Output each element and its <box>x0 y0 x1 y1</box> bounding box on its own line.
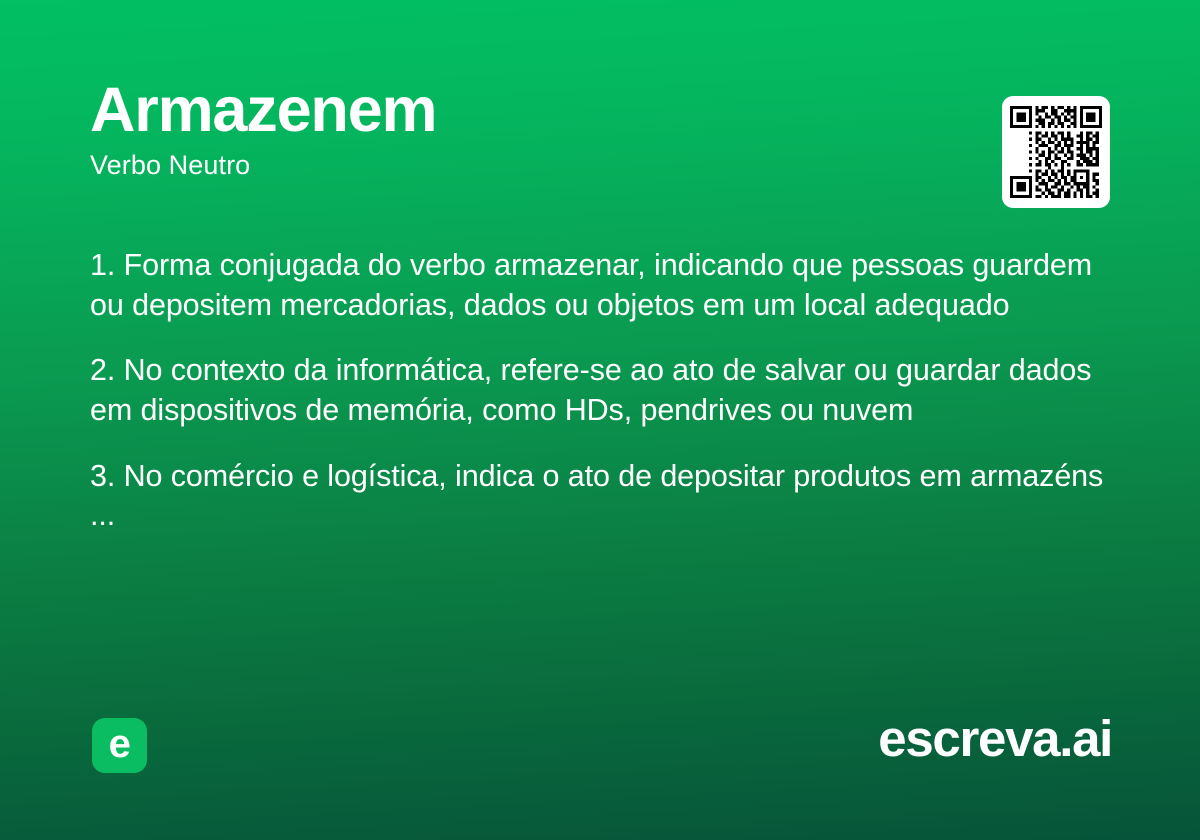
qr-code-container[interactable] <box>1002 96 1110 208</box>
definition-item: 3. No comércio e logística, indica o ato… <box>90 457 1112 536</box>
brand-wordmark: escreva.ai <box>878 708 1112 769</box>
dictionary-card: Armazenem Verbo Neutro <box>0 0 1200 840</box>
definitions-list: 1. Forma conjugada do verbo armazenar, i… <box>90 246 1112 536</box>
definition-item: 2. No contexto da informática, refere-se… <box>90 351 1112 430</box>
card-footer: e escreva.ai <box>0 690 1200 840</box>
qr-code-icon <box>1010 106 1102 198</box>
brand-logo-letter: e <box>109 724 131 764</box>
brand-logo-badge: e <box>92 718 147 773</box>
word-class-label: Verbo Neutro <box>90 151 1110 181</box>
definition-item: 1. Forma conjugada do verbo armazenar, i… <box>90 246 1112 325</box>
page-title: Armazenem <box>90 78 1110 142</box>
card-header: Armazenem Verbo Neutro <box>90 78 1110 208</box>
